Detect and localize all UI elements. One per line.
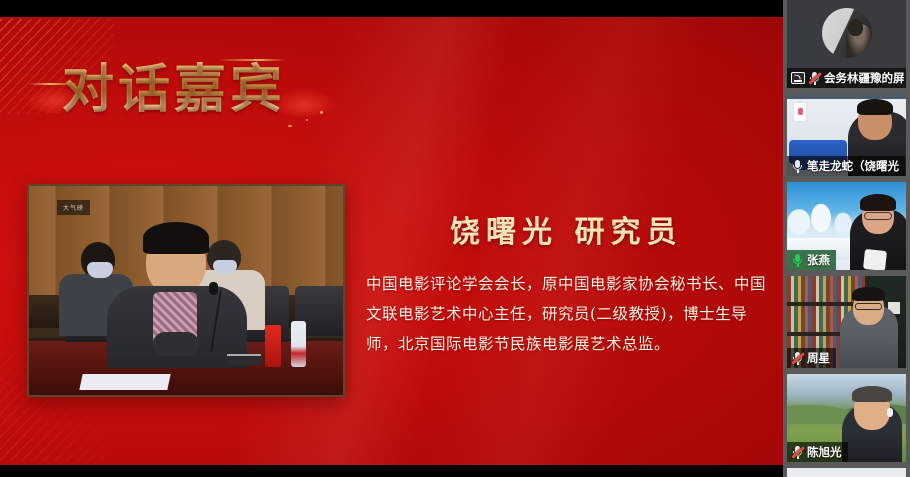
participant-tile-3[interactable]: 张燕 bbox=[787, 182, 906, 270]
avatar bbox=[822, 8, 872, 58]
participant-tile-4[interactable]: 周星 bbox=[787, 276, 906, 368]
shared-screen-area[interactable]: 对话嘉宾 bbox=[0, 0, 783, 477]
photo-watermark: 大气磅 bbox=[57, 200, 90, 215]
mic-muted-icon bbox=[791, 445, 804, 459]
participant-name: 周星 bbox=[807, 350, 830, 366]
participant-tile-1[interactable]: 会务林疆豫的屏 bbox=[787, 0, 906, 88]
sparkle-icon bbox=[306, 119, 308, 121]
presentation-slide: 对话嘉宾 bbox=[0, 17, 783, 465]
guest-name: 饶曙光 研究员 bbox=[450, 207, 682, 251]
photo-nameplate bbox=[227, 354, 261, 365]
guest-bio: 中国电影评论学会会长，原中国电影家协会秘书长、中国文联电影艺术中心主任，研究员(… bbox=[366, 269, 776, 359]
participant-label-3: 张燕 bbox=[787, 250, 836, 270]
page-title: 对话嘉宾 bbox=[62, 47, 286, 122]
photo-red-cup bbox=[265, 325, 281, 367]
mic-unmuted-icon bbox=[791, 159, 804, 173]
participant-tile-6-partial[interactable] bbox=[787, 468, 906, 477]
participant-name: 会务林疆豫的屏 bbox=[824, 70, 905, 86]
photo-water-bottle bbox=[291, 321, 306, 367]
participant-name: 陈旭光 bbox=[807, 444, 842, 460]
sparkle-icon bbox=[288, 125, 292, 127]
guest-photo: 大气磅 bbox=[27, 184, 345, 397]
participant-label-2: 笔走龙蛇（饶曙光 bbox=[787, 156, 905, 176]
participant-name: 笔走龙蛇（饶曙光 bbox=[807, 158, 899, 174]
participant-label-1: 会务林疆豫的屏 bbox=[787, 68, 906, 88]
mic-active-icon bbox=[791, 253, 804, 267]
letterbox-bottom-bar bbox=[0, 465, 783, 477]
photo-papers bbox=[79, 374, 170, 390]
sparkle-icon bbox=[320, 111, 323, 114]
participant-tile-2[interactable]: 笔走龙蛇（饶曙光 bbox=[787, 94, 906, 176]
participant-label-4: 周星 bbox=[787, 348, 836, 368]
participant-tile-5[interactable]: 陈旭光 bbox=[787, 374, 906, 462]
photo-microphone-head bbox=[209, 282, 218, 295]
mic-muted-icon bbox=[791, 351, 804, 365]
screen-share-icon bbox=[791, 72, 805, 84]
participant-name: 张燕 bbox=[807, 252, 830, 268]
participant-video-strip[interactable]: 会务林疆豫的屏 笔走龙蛇（饶曙光 bbox=[783, 0, 910, 477]
avatar-head bbox=[848, 19, 863, 36]
mic-muted-icon bbox=[808, 71, 821, 85]
participant-label-5: 陈旭光 bbox=[787, 442, 848, 462]
letterbox-top-bar bbox=[0, 0, 783, 17]
slide-title-block: 对话嘉宾 bbox=[20, 37, 440, 127]
